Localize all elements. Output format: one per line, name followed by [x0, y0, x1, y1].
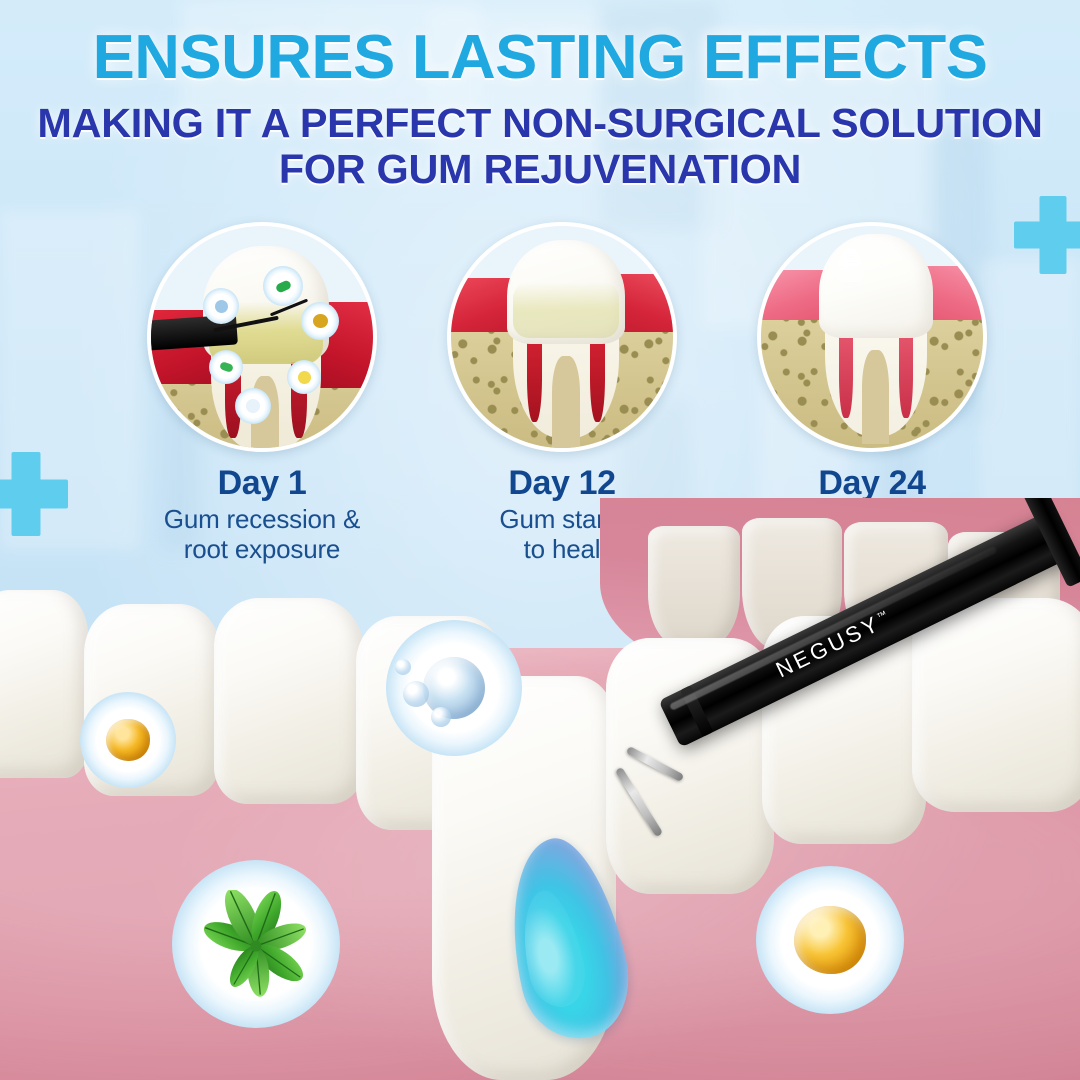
upper-tooth: [648, 526, 740, 646]
water-droplet-icon: [423, 657, 485, 719]
amber-droplet-icon: [794, 906, 866, 974]
day-1-illustration: [147, 222, 377, 452]
advertisement-canvas: ENSURES LASTING EFFECTS MAKING IT A PERF…: [0, 0, 1080, 1080]
lower-tooth: [214, 598, 364, 804]
amber-droplet-icon: [106, 719, 150, 761]
day-1-title: Day 1: [112, 466, 412, 502]
lower-tooth: [0, 590, 88, 778]
day-12-title: Day 12: [412, 466, 712, 502]
lower-tooth: [912, 598, 1080, 812]
pen-plunger-ring: [680, 685, 714, 737]
mouth-illustration: NEGUSY™: [0, 498, 1080, 1080]
headline-primary: ENSURES LASTING EFFECTS: [0, 26, 1080, 89]
headline-secondary-line2: FOR GUM REJUVENATION: [0, 147, 1080, 193]
mint-leaf-icon: [202, 890, 310, 998]
day-12-illustration: [447, 222, 677, 452]
headline-secondary: MAKING IT A PERFECT NON-SURGICAL SOLUTIO…: [0, 101, 1080, 193]
day-24-illustration: [757, 222, 987, 452]
ingredient-bubble-water: [386, 620, 522, 756]
headline-block: ENSURES LASTING EFFECTS MAKING IT A PERF…: [0, 26, 1080, 193]
day-24-title: Day 24: [722, 466, 1022, 502]
headline-secondary-line1: MAKING IT A PERFECT NON-SURGICAL SOLUTIO…: [37, 100, 1042, 146]
ingredient-bubble-propolis: [80, 692, 176, 788]
ingredient-bubble-mint: [172, 860, 340, 1028]
ingredient-bubble-propolis-2: [756, 866, 904, 1014]
